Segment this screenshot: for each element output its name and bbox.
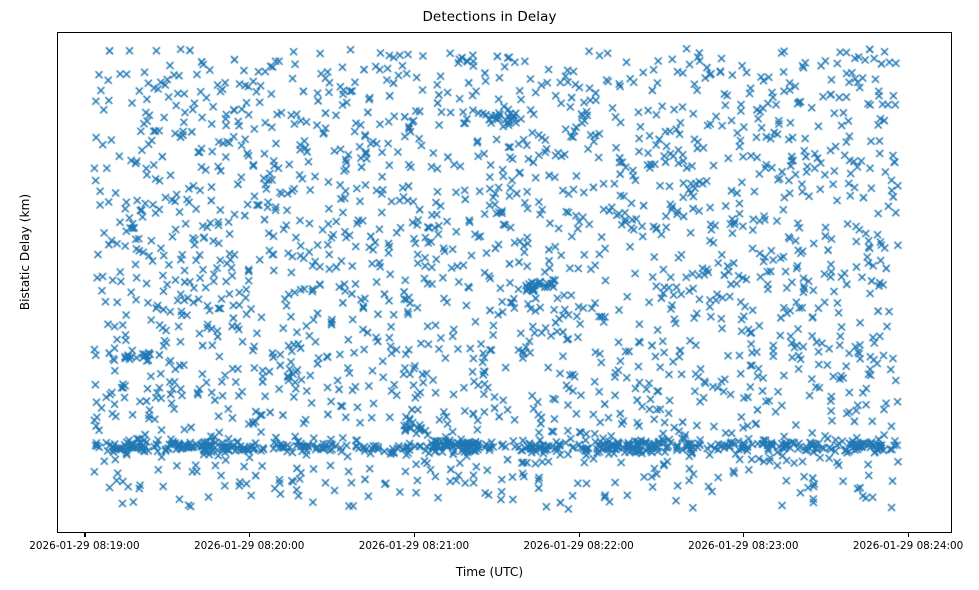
x-tick-mark <box>249 533 250 537</box>
chart-title: Detections in Delay <box>0 9 979 25</box>
x-tick-mark <box>908 533 909 537</box>
plot-axes-area <box>57 32 952 533</box>
y-axis-label: Bistatic Delay (km) <box>18 22 32 482</box>
x-tick-mark <box>743 533 744 537</box>
x-axis-label: Time (UTC) <box>0 565 979 579</box>
x-tick-mark <box>579 533 580 537</box>
x-tick-mark <box>414 533 415 537</box>
figure-canvas: Detections in Delay 0102030405060 2026-0… <box>0 0 979 590</box>
scatter-plot-points <box>58 33 952 533</box>
x-tick-mark <box>84 533 85 537</box>
x-tick-label: 2026-01-29 08:24:00 <box>808 540 979 552</box>
